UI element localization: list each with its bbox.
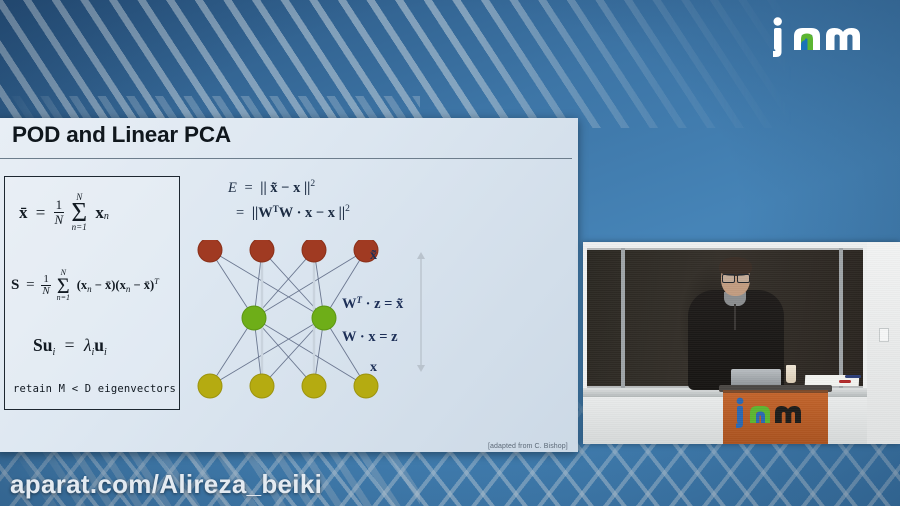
reconstruction-error-equation-line-1: E = || x̃ − x ||2 [228,180,315,197]
red-marker [839,380,851,383]
error-equals-1: = [244,180,252,196]
iam-logo [770,14,882,60]
right-wall [867,242,900,444]
page-title: POD and Linear PCA [12,122,231,148]
eigenvalue-equation: Sui = λiui [33,335,107,356]
presentation-slide: POD and Linear PCA x̄ = 1 N N Σ n=1 [0,118,578,452]
decoder-equation-label: WT · z = x̃ [342,296,403,313]
title-divider [0,158,572,159]
cov-term-middle: − x̄)(x [92,278,126,292]
output-layer-label: x̃ [370,248,377,264]
error-rhs-1: || x̃ − x || [260,180,310,196]
error-exponent-2: 2 [345,204,350,214]
eigen-u-subscript: i [104,347,107,358]
eigen-lhs: Su [33,335,52,355]
eigen-lambda-subscript: i [91,347,94,358]
error-equals-2: = [236,205,244,221]
mean-term: x [95,203,104,223]
cov-fraction-denominator: N [41,286,51,298]
decoder-transpose: T [357,295,363,305]
network-hidden-nodes [242,306,336,330]
covariance-equation: S = 1 N N Σ n=1 (xn − x̄)(xn − x̄)T [11,269,159,302]
cov-term-open: (x [77,278,87,292]
network-edges [210,250,366,386]
video-frame: POD and Linear PCA x̄ = 1 N N Σ n=1 [0,0,900,506]
speaker-zipper [734,304,736,330]
eigen-u: u [94,335,104,355]
encoder-equation-label: W · x = z [342,329,398,346]
network-vertical-guides [262,258,314,380]
light-switch [879,328,889,342]
eigen-equals: = [65,335,75,355]
decoder-w: W [342,296,357,312]
mean-equation: x̄ = 1 N N Σ n=1 xn [19,193,109,232]
watermark-text: aparat.com/Alireza_beiki [10,469,322,500]
slide-content: x̄ = 1 N N Σ n=1 xn S = [0,160,578,452]
mean-sum-lower: n=1 [71,223,87,232]
mean-fraction-numerator: 1 [54,198,65,213]
input-layer-label: x [370,360,377,376]
error-rhs-2-w: W [258,205,273,221]
slide-credit: [adapted from C. Bishop] [488,443,568,450]
coffee-cup [786,365,796,383]
mean-sum-symbol: Σ [71,202,87,223]
laptop-screen [731,369,781,386]
error-rhs-2-transpose: T [273,204,279,214]
podium-iam-logo [735,396,817,430]
mean-fraction-denominator: N [54,213,65,227]
encoder-w: W [342,329,356,345]
eigen-lhs-subscript: i [52,347,55,358]
cov-equals: = [26,277,34,294]
speaker-glasses-right-lens [737,274,750,283]
blackboard-seam-right [839,248,843,388]
mean-term-subscript: n [104,211,109,222]
cov-sum-symbol: Σ [57,277,70,294]
blackboard-seam-left [621,248,625,388]
cov-term-end: − x̄) [130,278,154,292]
vertical-arrow-icon [416,250,426,374]
lecture-video-panel[interactable] [583,242,900,444]
reconstruction-error-equation-line-2: = ||WTW · x − x ||2 [236,205,350,222]
formula-box: x̄ = 1 N N Σ n=1 xn S = [4,176,180,410]
error-lhs: E [228,180,237,196]
retain-eigenvectors-note: retain M < D eigenvectors [13,383,176,395]
cov-term-transpose: T [154,276,159,286]
error-exponent-1: 2 [310,179,315,189]
error-rhs-2-rest: W · x − x || [279,205,345,221]
mean-equals: = [36,203,46,223]
encoder-rest: · x = z [356,329,397,345]
blue-marker [845,375,861,378]
mean-lhs: x̄ [19,203,28,223]
autoencoder-network-diagram [196,240,436,405]
speaker-glasses-left-lens [722,274,735,283]
network-input-nodes [198,374,378,398]
cov-lhs: S [11,277,19,294]
cov-term-sub-2: n [126,284,131,294]
cov-sum-lower: n=1 [57,294,70,302]
cov-term-sub-1: n [87,284,92,294]
decoder-rest: · z = x̃ [362,296,403,312]
